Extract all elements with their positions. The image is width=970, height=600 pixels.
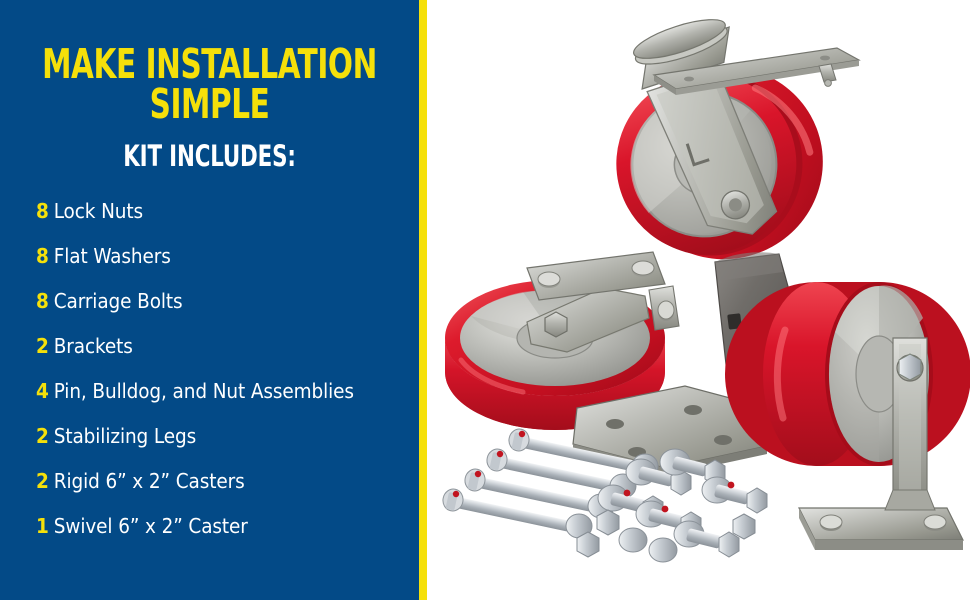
kit-item-label: Rigid 6” x 2” Casters <box>54 469 245 493</box>
info-panel: MAKE INSTALLATION SIMPLE KIT INCLUDES: 8… <box>0 0 419 600</box>
swivel-caster-illustration <box>593 11 859 288</box>
kit-item-qty: 8 <box>36 244 49 268</box>
list-item: 8Flat Washers <box>36 241 406 286</box>
list-item: 2Stabilizing Legs <box>36 421 406 466</box>
kit-item-qty: 2 <box>36 334 49 358</box>
kit-item-qty: 1 <box>36 514 49 538</box>
kit-item-label: Carriage Bolts <box>54 289 183 313</box>
kit-item-qty: 2 <box>36 424 49 448</box>
list-item: 8Carriage Bolts <box>36 286 406 331</box>
page-title: MAKE INSTALLATION SIMPLE <box>42 44 377 124</box>
kit-item-label: Swivel 6” x 2” Caster <box>54 514 248 538</box>
list-item: 8Lock Nuts <box>36 196 406 241</box>
kit-contents-list: 8Lock Nuts 8Flat Washers 8Carriage Bolts… <box>36 196 406 556</box>
list-item: 1Swivel 6” x 2” Caster <box>36 511 406 556</box>
kit-item-label: Pin, Bulldog, and Nut Assemblies <box>54 379 354 403</box>
list-item: 4Pin, Bulldog, and Nut Assemblies <box>36 376 406 421</box>
kit-includes-heading: KIT INCLUDES: <box>38 139 382 173</box>
kit-item-label: Flat Washers <box>54 244 171 268</box>
kit-item-qty: 2 <box>36 469 49 493</box>
headline-line-1: MAKE INSTALLATION <box>42 44 377 84</box>
accent-stripe <box>419 0 427 600</box>
list-item: 2Brackets <box>36 331 406 376</box>
headline-line-2: SIMPLE <box>42 84 377 124</box>
product-photo <box>427 0 970 600</box>
kit-item-qty: 8 <box>36 199 49 223</box>
kit-item-qty: 4 <box>36 379 49 403</box>
kit-item-label: Brackets <box>54 334 133 358</box>
product-feature-banner: MAKE INSTALLATION SIMPLE KIT INCLUDES: 8… <box>0 0 970 600</box>
kit-item-label: Lock Nuts <box>54 199 143 223</box>
list-item: 2Rigid 6” x 2” Casters <box>36 466 406 511</box>
lock-nuts-and-washers-illustration <box>577 449 767 562</box>
kit-item-qty: 8 <box>36 289 49 313</box>
kit-item-label: Stabilizing Legs <box>54 424 196 448</box>
